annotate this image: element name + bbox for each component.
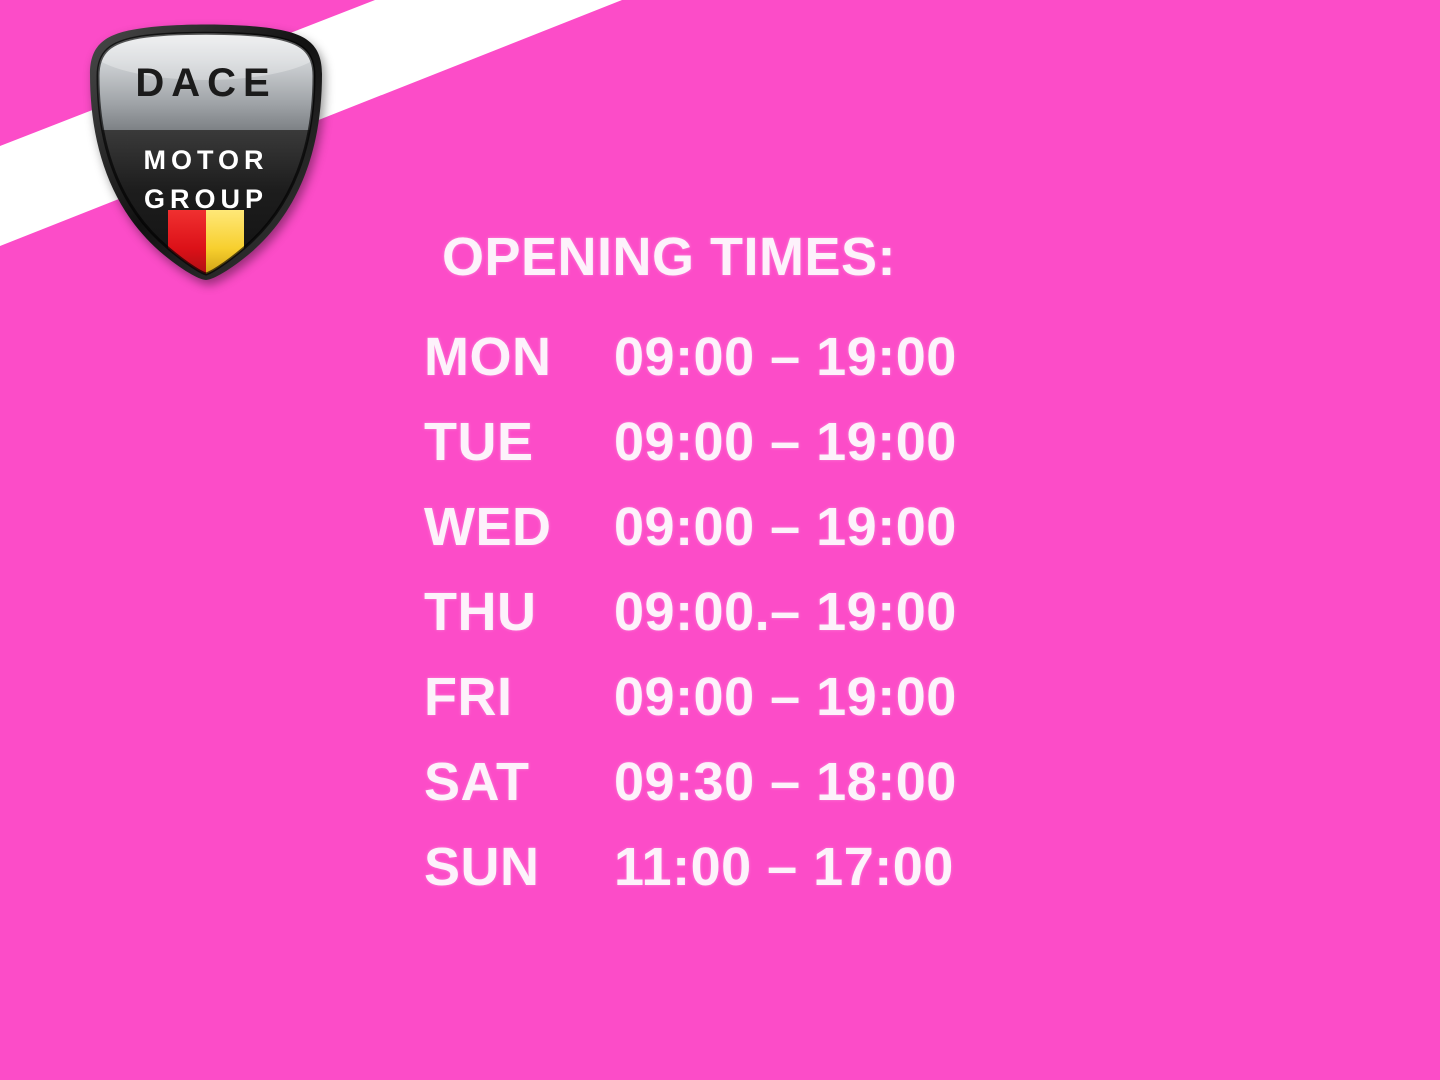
opening-hours-block: OPENING TIMES: MON 09:00 – 19:00 TUE 09:…: [424, 230, 1024, 909]
table-row: MON 09:00 – 19:00: [424, 314, 1024, 399]
day-time-sun: 11:00 – 17:00: [614, 824, 1024, 909]
day-time-sat: 09:30 – 18:00: [614, 739, 1024, 824]
day-label-tue: TUE: [424, 399, 614, 484]
day-time-tue: 09:00 – 19:00: [614, 399, 1024, 484]
table-row: WED 09:00 – 19:00: [424, 484, 1024, 569]
table-row: SUN 11:00 – 17:00: [424, 824, 1024, 909]
shield-logo-icon: DACE MOTOR GROUP: [80, 24, 332, 280]
opening-hours-table: MON 09:00 – 19:00 TUE 09:00 – 19:00 WED …: [424, 314, 1024, 909]
day-label-sun: SUN: [424, 824, 614, 909]
day-label-wed: WED: [424, 484, 614, 569]
table-row: FRI 09:00 – 19:00: [424, 654, 1024, 739]
day-time-thu: 09:00.– 19:00: [614, 569, 1024, 654]
day-time-wed: 09:00 – 19:00: [614, 484, 1024, 569]
logo-text-dace: DACE: [135, 61, 276, 105]
day-label-thu: THU: [424, 569, 614, 654]
table-row: TUE 09:00 – 19:00: [424, 399, 1024, 484]
dace-motor-group-logo: DACE MOTOR GROUP: [80, 24, 332, 280]
day-label-mon: MON: [424, 314, 614, 399]
opening-times-heading: OPENING TIMES:: [424, 230, 1024, 284]
opening-times-poster: DACE MOTOR GROUP OPENING TIMES: MON 09:0…: [0, 0, 1440, 1080]
logo-text-group: GROUP: [144, 184, 268, 214]
day-time-mon: 09:00 – 19:00: [614, 314, 1024, 399]
table-row: SAT 09:30 – 18:00: [424, 739, 1024, 824]
day-label-sat: SAT: [424, 739, 614, 824]
opening-hours-rows: MON 09:00 – 19:00 TUE 09:00 – 19:00 WED …: [424, 314, 1024, 909]
logo-text-motor: MOTOR: [144, 145, 269, 175]
day-time-fri: 09:00 – 19:00: [614, 654, 1024, 739]
table-row: THU 09:00.– 19:00: [424, 569, 1024, 654]
day-label-fri: FRI: [424, 654, 614, 739]
